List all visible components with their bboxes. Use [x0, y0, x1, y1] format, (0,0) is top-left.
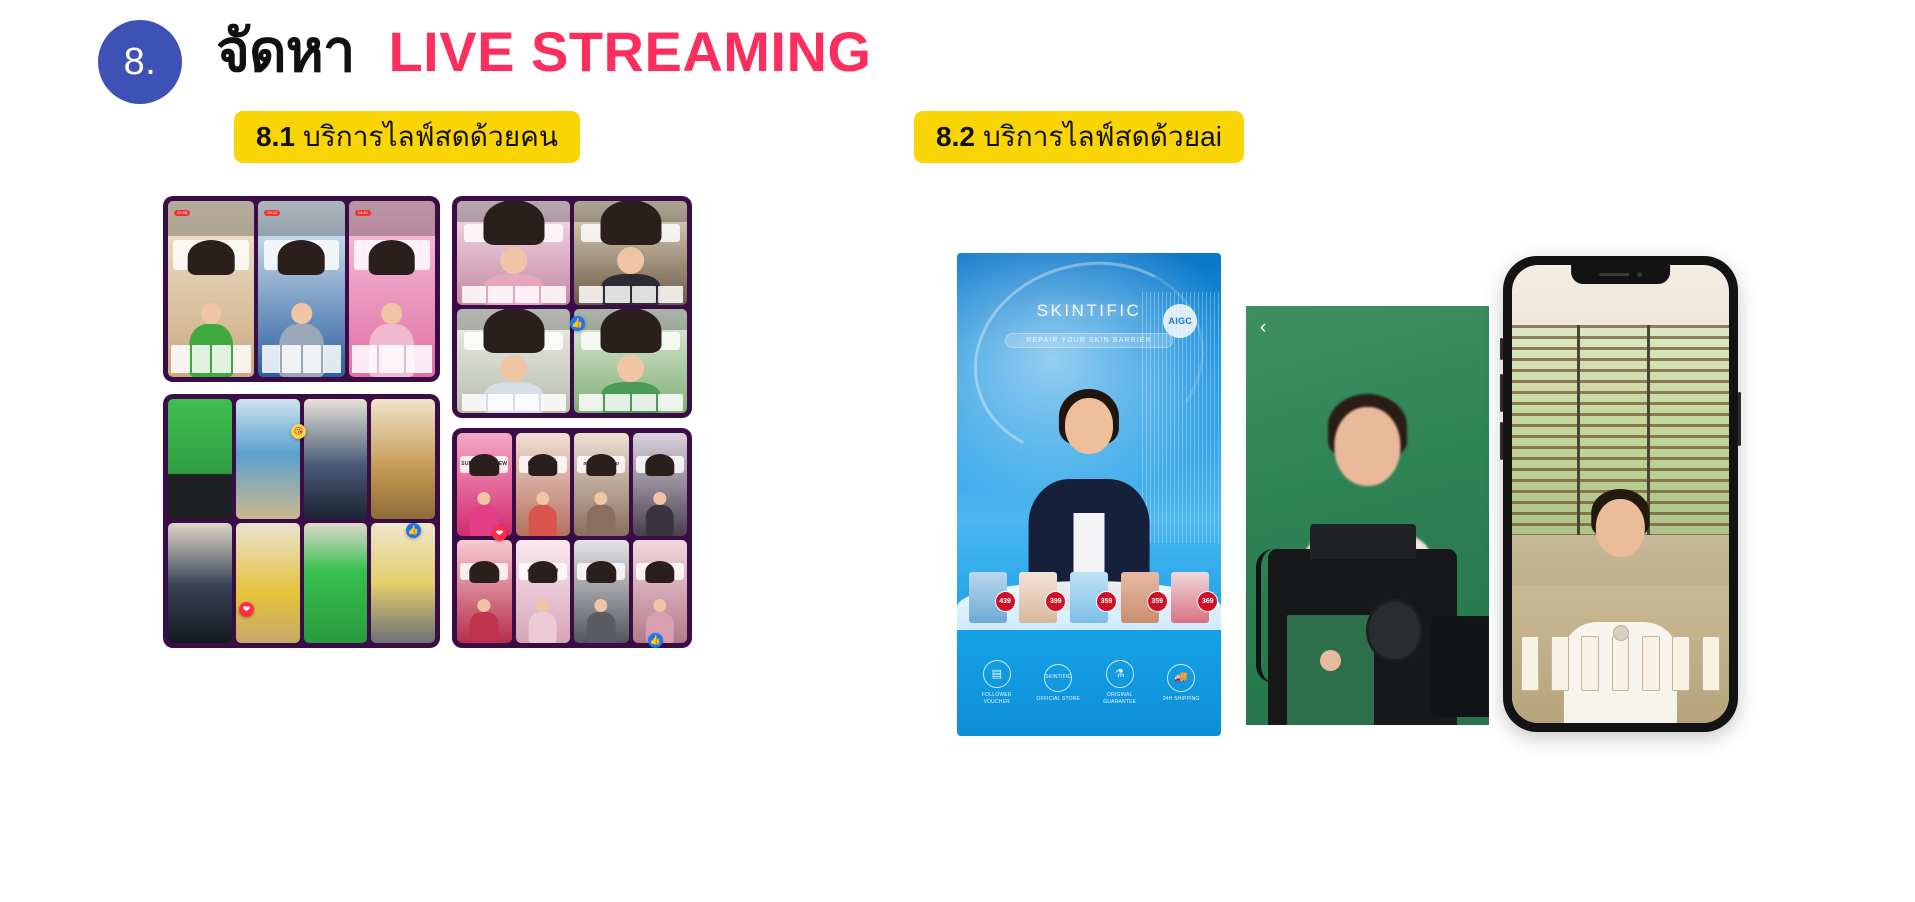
- host-figure: [470, 589, 498, 643]
- phone-notch: [1571, 265, 1671, 284]
- host-hair: [645, 454, 674, 476]
- collage-cell[interactable]: [168, 399, 232, 519]
- shelf-product: [1581, 636, 1599, 691]
- section-number-badge: 8.: [98, 20, 182, 104]
- product-price-row: 439 399 359 359 369: [962, 555, 1215, 623]
- feature-label: FOLLOWER VOUCHER: [969, 692, 1024, 706]
- product-item[interactable]: 439: [969, 572, 1007, 622]
- host-hair: [645, 561, 674, 583]
- presenter-head: [1334, 407, 1400, 486]
- feature-official-store[interactable]: SKINTIFIC OFFICIAL STORE: [1031, 664, 1086, 703]
- collage-live-shots-2x2: TRIVA SHINJI ร้านอาหาร ญี่ปุ่นกินพุง �: [452, 196, 692, 418]
- collage-cell[interactable]: styling live: [633, 540, 688, 643]
- host-figure: [529, 589, 557, 643]
- green-screen-camera-panel[interactable]: ‹: [1246, 306, 1489, 725]
- product-row: [171, 345, 250, 373]
- host-hair: [587, 454, 616, 476]
- presenter-head: [1596, 499, 1645, 557]
- shelf-product: [1551, 636, 1569, 691]
- skintific-tagline: REPAIR YOUR SKIN BARRIER: [1005, 333, 1174, 348]
- collage-cell[interactable]: [371, 399, 435, 519]
- heart-reaction-icon: ❤: [492, 526, 507, 541]
- collage-cell[interactable]: [168, 523, 232, 643]
- stream-timestamp: 00:12: [264, 210, 280, 216]
- host-figure: [587, 589, 615, 643]
- phone-volume-down-button[interactable]: [1500, 422, 1503, 460]
- feature-24h-shipping[interactable]: 🚚 24H SHIPPING: [1154, 664, 1209, 703]
- host-hair: [483, 309, 544, 353]
- host-hair: [600, 201, 661, 245]
- shelf-product: [1642, 636, 1660, 691]
- collage-cell[interactable]: TRIVA: [457, 201, 570, 305]
- product-row: [579, 394, 683, 411]
- collage-cell[interactable]: [236, 523, 300, 643]
- price-tag: 369: [1197, 591, 1218, 612]
- price-tag: 399: [1045, 591, 1066, 612]
- subsection-index-8-1: 8.1: [256, 123, 295, 151]
- product-row: [579, 286, 683, 303]
- shelf-product: [1672, 636, 1690, 691]
- collage-cell[interactable]: skincare set: [516, 540, 571, 643]
- ai-avatar-phone-mockup[interactable]: [1503, 256, 1738, 732]
- collage-cell[interactable]: [304, 399, 368, 519]
- store-feature-row: ▤ FOLLOWER VOUCHER SKINTIFIC OFFICIAL ST…: [957, 637, 1221, 729]
- feature-label: OFFICIAL STORE: [1031, 696, 1086, 703]
- collage-cell[interactable]: 00:12 iceland spring: [258, 201, 344, 377]
- collage-cell[interactable]: [304, 523, 368, 643]
- product-item[interactable]: 359: [1121, 572, 1159, 622]
- phone-volume-up-button[interactable]: [1500, 374, 1503, 412]
- phone-mute-button[interactable]: [1500, 338, 1503, 360]
- phone-power-button[interactable]: [1738, 392, 1741, 446]
- collage-cell[interactable]: [236, 399, 300, 519]
- like-reaction-icon: 👍: [406, 523, 421, 538]
- price-tag: 359: [1147, 591, 1168, 612]
- phone-speaker: [1599, 273, 1629, 277]
- collage-cell[interactable]: makeup demo: [574, 433, 629, 536]
- phone-screen[interactable]: [1512, 265, 1729, 723]
- host-hair: [369, 240, 416, 275]
- flask-icon: ⚗: [1106, 660, 1134, 688]
- kiss-reaction-icon: 😘: [291, 424, 306, 439]
- host-figure: [646, 482, 674, 536]
- host-hair: [278, 240, 325, 275]
- host-hair: [470, 561, 499, 583]
- section-number-text: 8.: [124, 41, 157, 84]
- stream-header-bar: [168, 201, 254, 236]
- dslr-camera: [1268, 549, 1458, 725]
- subsection-index-8-2: 8.2: [936, 123, 975, 151]
- host-hair: [528, 454, 557, 476]
- product-item[interactable]: 369: [1171, 572, 1209, 622]
- collage-cell[interactable]: ร้านอาหาร: [457, 309, 570, 413]
- shelf-product: [1702, 636, 1720, 691]
- presenter-badge: [1613, 625, 1629, 641]
- product-row: [262, 345, 341, 373]
- product-item[interactable]: 359: [1070, 572, 1108, 622]
- back-chevron-icon[interactable]: ‹: [1260, 318, 1266, 337]
- heart-reaction-icon: ❤: [239, 602, 254, 617]
- collage-studio-photos: 😘 👍 ❤: [163, 394, 440, 648]
- like-reaction-icon: 👍: [648, 633, 663, 648]
- collage-cell[interactable]: hair care: [633, 433, 688, 536]
- collage-cell[interactable]: 14:40 JIL WINK: [349, 201, 435, 377]
- host-hair: [587, 561, 616, 583]
- stream-timestamp: 14:40: [355, 210, 371, 216]
- slide-root: 8. จัดหา LIVE STREAMING 8.1 บริการไลฟ์สด…: [0, 0, 1915, 902]
- collage-live-shots-4x2: SUMMER REVIEW beauty haul makeup demo ha…: [452, 428, 692, 648]
- truck-icon: 🚚: [1167, 664, 1195, 692]
- shelf-product: [1521, 636, 1539, 691]
- feature-label: 24H SHIPPING: [1154, 696, 1209, 703]
- collage-cell[interactable]: DEKKER: [457, 540, 512, 643]
- collage-cell[interactable]: ญี่ปุ่นกินพุง: [574, 309, 687, 413]
- subsection-label-8-2: บริการไลฟ์สดด้วยai: [983, 123, 1222, 151]
- feature-label: ORIGINAL GUARANTEE: [1092, 692, 1147, 706]
- feature-follower-voucher[interactable]: ▤ FOLLOWER VOUCHER: [969, 660, 1024, 706]
- product-row: [352, 345, 431, 373]
- product-item[interactable]: 399: [1019, 572, 1057, 622]
- avatar-head: [1065, 398, 1114, 454]
- host-hair: [188, 240, 235, 275]
- collage-cell[interactable]: [371, 523, 435, 643]
- host-hair: [470, 454, 499, 476]
- host-hair: [528, 561, 557, 583]
- page-title-english: LIVE STREAMING: [388, 21, 871, 83]
- subsection-label-8-1: บริการไลฟ์สดด้วยคน: [303, 123, 558, 151]
- page-title-thai: จัดหา: [216, 20, 354, 84]
- camera-lens: [1431, 616, 1489, 717]
- camera-lcd-preview: [1287, 615, 1374, 725]
- collage-cell[interactable]: shoes live: [574, 540, 629, 643]
- page-title: จัดหา LIVE STREAMING: [216, 20, 871, 84]
- host-hair: [483, 201, 544, 245]
- feature-original-guarantee[interactable]: ⚗ ORIGINAL GUARANTEE: [1092, 660, 1147, 706]
- collage-live-shots-row: 22:58 Green & Organic 00:12 iceland spri…: [163, 196, 440, 382]
- aigc-badge: AIGC: [1163, 304, 1197, 338]
- collage-cell[interactable]: beauty haul: [516, 433, 571, 536]
- product-row: [462, 286, 566, 303]
- host-hair: [600, 309, 661, 353]
- stream-header-bar: [258, 201, 344, 236]
- host-figure: [529, 482, 557, 536]
- camera-viewfinder: [1310, 524, 1416, 559]
- shelf-product: [1612, 636, 1630, 691]
- camera-strap: [1256, 549, 1290, 683]
- collage-cell[interactable]: SHINJI: [574, 201, 687, 305]
- subsection-pill-8-1[interactable]: 8.1 บริการไลฟ์สดด้วยคน: [234, 111, 580, 163]
- collage-cell[interactable]: 22:58 Green & Organic: [168, 201, 254, 377]
- skintific-ai-livestream-panel[interactable]: SKINTIFIC REPAIR YOUR SKIN BARRIER AIGC …: [957, 253, 1221, 736]
- store-icon: SKINTIFIC: [1044, 664, 1072, 692]
- stream-timestamp: 22:58: [174, 210, 190, 216]
- stream-header-bar: [349, 201, 435, 236]
- voucher-icon: ▤: [983, 660, 1011, 688]
- camera-control-dial: [1366, 599, 1423, 662]
- subsection-pill-8-2[interactable]: 8.2 บริการไลฟ์สดด้วยai: [914, 111, 1244, 163]
- price-tag: 359: [1096, 591, 1117, 612]
- price-tag: 439: [995, 591, 1016, 612]
- product-row: [462, 394, 566, 411]
- like-reaction-icon: 👍: [570, 316, 585, 331]
- phone-front-camera-icon: [1637, 272, 1642, 277]
- collage-cell[interactable]: SUMMER REVIEW: [457, 433, 512, 536]
- host-figure: [587, 482, 615, 536]
